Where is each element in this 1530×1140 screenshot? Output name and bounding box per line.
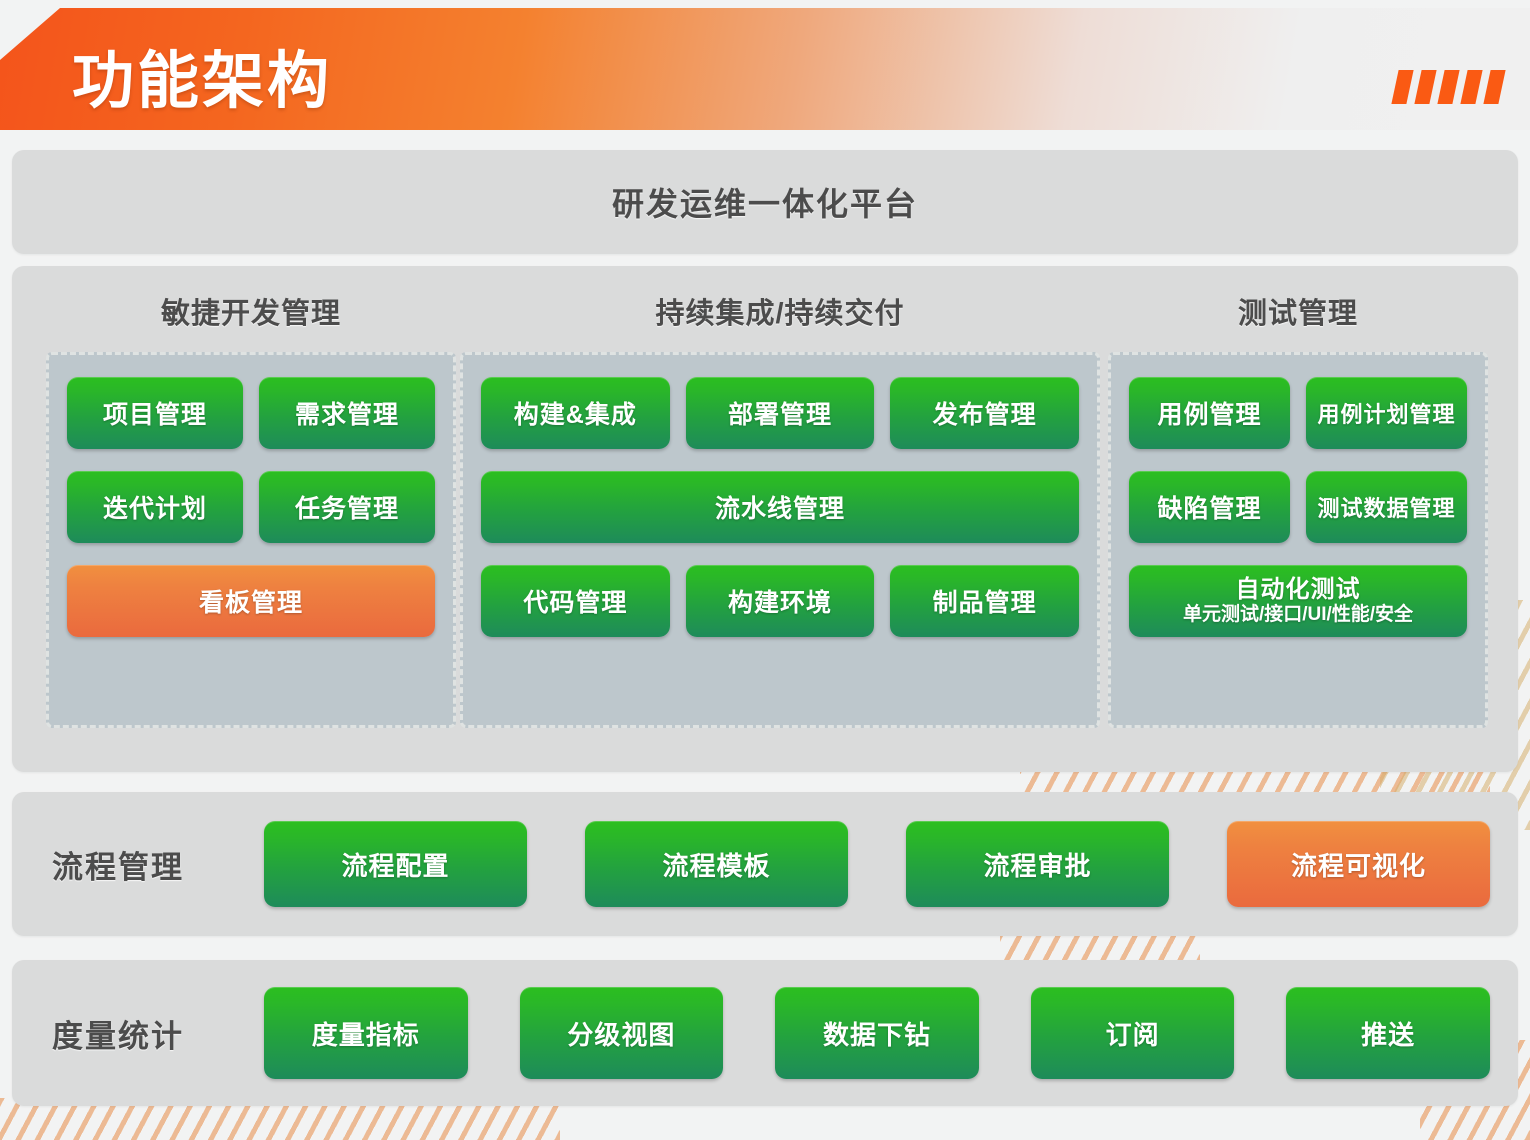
- button-row: 迭代计划任务管理: [67, 471, 435, 543]
- capability-band: 敏捷开发管理 项目管理需求管理迭代计划任务管理看板管理 持续集成/持续交付 构建…: [12, 266, 1518, 772]
- capability-button-需求管理[interactable]: 需求管理: [259, 377, 435, 449]
- button-row: 流水线管理: [481, 471, 1079, 543]
- button-row: 用例管理用例计划管理: [1129, 377, 1467, 449]
- metric-button-度量指标[interactable]: 度量指标: [264, 987, 468, 1079]
- header-stripe-bars: [1395, 70, 1502, 104]
- flow-band-label: 流程管理: [52, 842, 264, 887]
- flow-button-流程模板[interactable]: 流程模板: [585, 821, 848, 907]
- capability-button-构建环境[interactable]: 构建环境: [686, 565, 875, 637]
- capability-button-发布管理[interactable]: 发布管理: [890, 377, 1079, 449]
- column-agile: 敏捷开发管理 项目管理需求管理迭代计划任务管理看板管理: [46, 266, 456, 728]
- capability-button-代码管理[interactable]: 代码管理: [481, 565, 670, 637]
- capability-button-构建&集成[interactable]: 构建&集成: [481, 377, 670, 449]
- capability-button-部署管理[interactable]: 部署管理: [686, 377, 875, 449]
- slanted-bar-icon: [1437, 70, 1459, 104]
- page-title: 功能架构: [72, 30, 332, 120]
- column-title-cicd: 持续集成/持续交付: [460, 266, 1100, 332]
- capability-button-迭代计划[interactable]: 迭代计划: [67, 471, 243, 543]
- capability-button-流水线管理[interactable]: 流水线管理: [481, 471, 1079, 543]
- metric-band-buttons: 度量指标分级视图数据下钻订阅推送: [264, 987, 1490, 1079]
- flow-button-流程配置[interactable]: 流程配置: [264, 821, 527, 907]
- slanted-bar-icon: [1483, 70, 1505, 104]
- capability-columns: 敏捷开发管理 项目管理需求管理迭代计划任务管理看板管理 持续集成/持续交付 构建…: [12, 266, 1518, 772]
- button-sublabel: 单元测试/接口/UI/性能/安全: [1183, 605, 1413, 625]
- slanted-bar-icon: [1414, 70, 1436, 104]
- capability-button-用例管理[interactable]: 用例管理: [1129, 377, 1290, 449]
- flow-button-流程可视化[interactable]: 流程可视化: [1227, 821, 1490, 907]
- column-box-test: 用例管理用例计划管理缺陷管理测试数据管理自动化测试单元测试/接口/UI/性能/安…: [1108, 352, 1488, 728]
- button-row: 构建&集成部署管理发布管理: [481, 377, 1079, 449]
- column-test: 测试管理 用例管理用例计划管理缺陷管理测试数据管理自动化测试单元测试/接口/UI…: [1108, 266, 1488, 728]
- metric-band-label: 度量统计: [52, 1011, 264, 1056]
- button-row: 缺陷管理测试数据管理: [1129, 471, 1467, 543]
- capability-button-自动化测试[interactable]: 自动化测试单元测试/接口/UI/性能/安全: [1129, 565, 1467, 637]
- column-title-agile: 敏捷开发管理: [46, 266, 456, 332]
- capability-button-看板管理[interactable]: 看板管理: [67, 565, 435, 637]
- metric-button-推送[interactable]: 推送: [1286, 987, 1490, 1079]
- function-architecture-page: 功能架构 研发运维一体化平台 敏捷开发管理 项目管理需求管理迭代计划任务管理看板…: [0, 0, 1530, 1140]
- metric-button-订阅[interactable]: 订阅: [1031, 987, 1235, 1079]
- column-cicd: 持续集成/持续交付 构建&集成部署管理发布管理流水线管理代码管理构建环境制品管理: [460, 266, 1100, 728]
- slanted-bar-icon: [1391, 70, 1413, 104]
- button-row: 看板管理: [67, 565, 435, 637]
- column-box-agile: 项目管理需求管理迭代计划任务管理看板管理: [46, 352, 456, 728]
- metric-button-数据下钻[interactable]: 数据下钻: [775, 987, 979, 1079]
- button-row: 代码管理构建环境制品管理: [481, 565, 1079, 637]
- column-box-cicd: 构建&集成部署管理发布管理流水线管理代码管理构建环境制品管理: [460, 352, 1100, 728]
- metric-statistics-band: 度量统计 度量指标分级视图数据下钻订阅推送: [12, 960, 1518, 1106]
- capability-button-项目管理[interactable]: 项目管理: [67, 377, 243, 449]
- flow-management-band: 流程管理 流程配置流程模板流程审批流程可视化: [12, 792, 1518, 936]
- metric-band-inner: 度量统计 度量指标分级视图数据下钻订阅推送: [12, 960, 1518, 1106]
- capability-button-用例计划管理[interactable]: 用例计划管理: [1306, 377, 1467, 449]
- button-row: 自动化测试单元测试/接口/UI/性能/安全: [1129, 565, 1467, 637]
- button-label: 自动化测试: [1236, 577, 1361, 602]
- flow-band-buttons: 流程配置流程模板流程审批流程可视化: [264, 821, 1490, 907]
- capability-button-缺陷管理[interactable]: 缺陷管理: [1129, 471, 1290, 543]
- column-title-test: 测试管理: [1108, 266, 1488, 332]
- flow-band-inner: 流程管理 流程配置流程模板流程审批流程可视化: [12, 792, 1518, 936]
- capability-button-测试数据管理[interactable]: 测试数据管理: [1306, 471, 1467, 543]
- capability-button-制品管理[interactable]: 制品管理: [890, 565, 1079, 637]
- platform-band: 研发运维一体化平台: [12, 150, 1518, 254]
- flow-button-流程审批[interactable]: 流程审批: [906, 821, 1169, 907]
- slanted-bar-icon: [1460, 70, 1482, 104]
- metric-button-分级视图[interactable]: 分级视图: [520, 987, 724, 1079]
- platform-title: 研发运维一体化平台: [612, 179, 918, 225]
- page-header-banner: 功能架构: [0, 8, 1530, 130]
- button-row: 项目管理需求管理: [67, 377, 435, 449]
- capability-button-任务管理[interactable]: 任务管理: [259, 471, 435, 543]
